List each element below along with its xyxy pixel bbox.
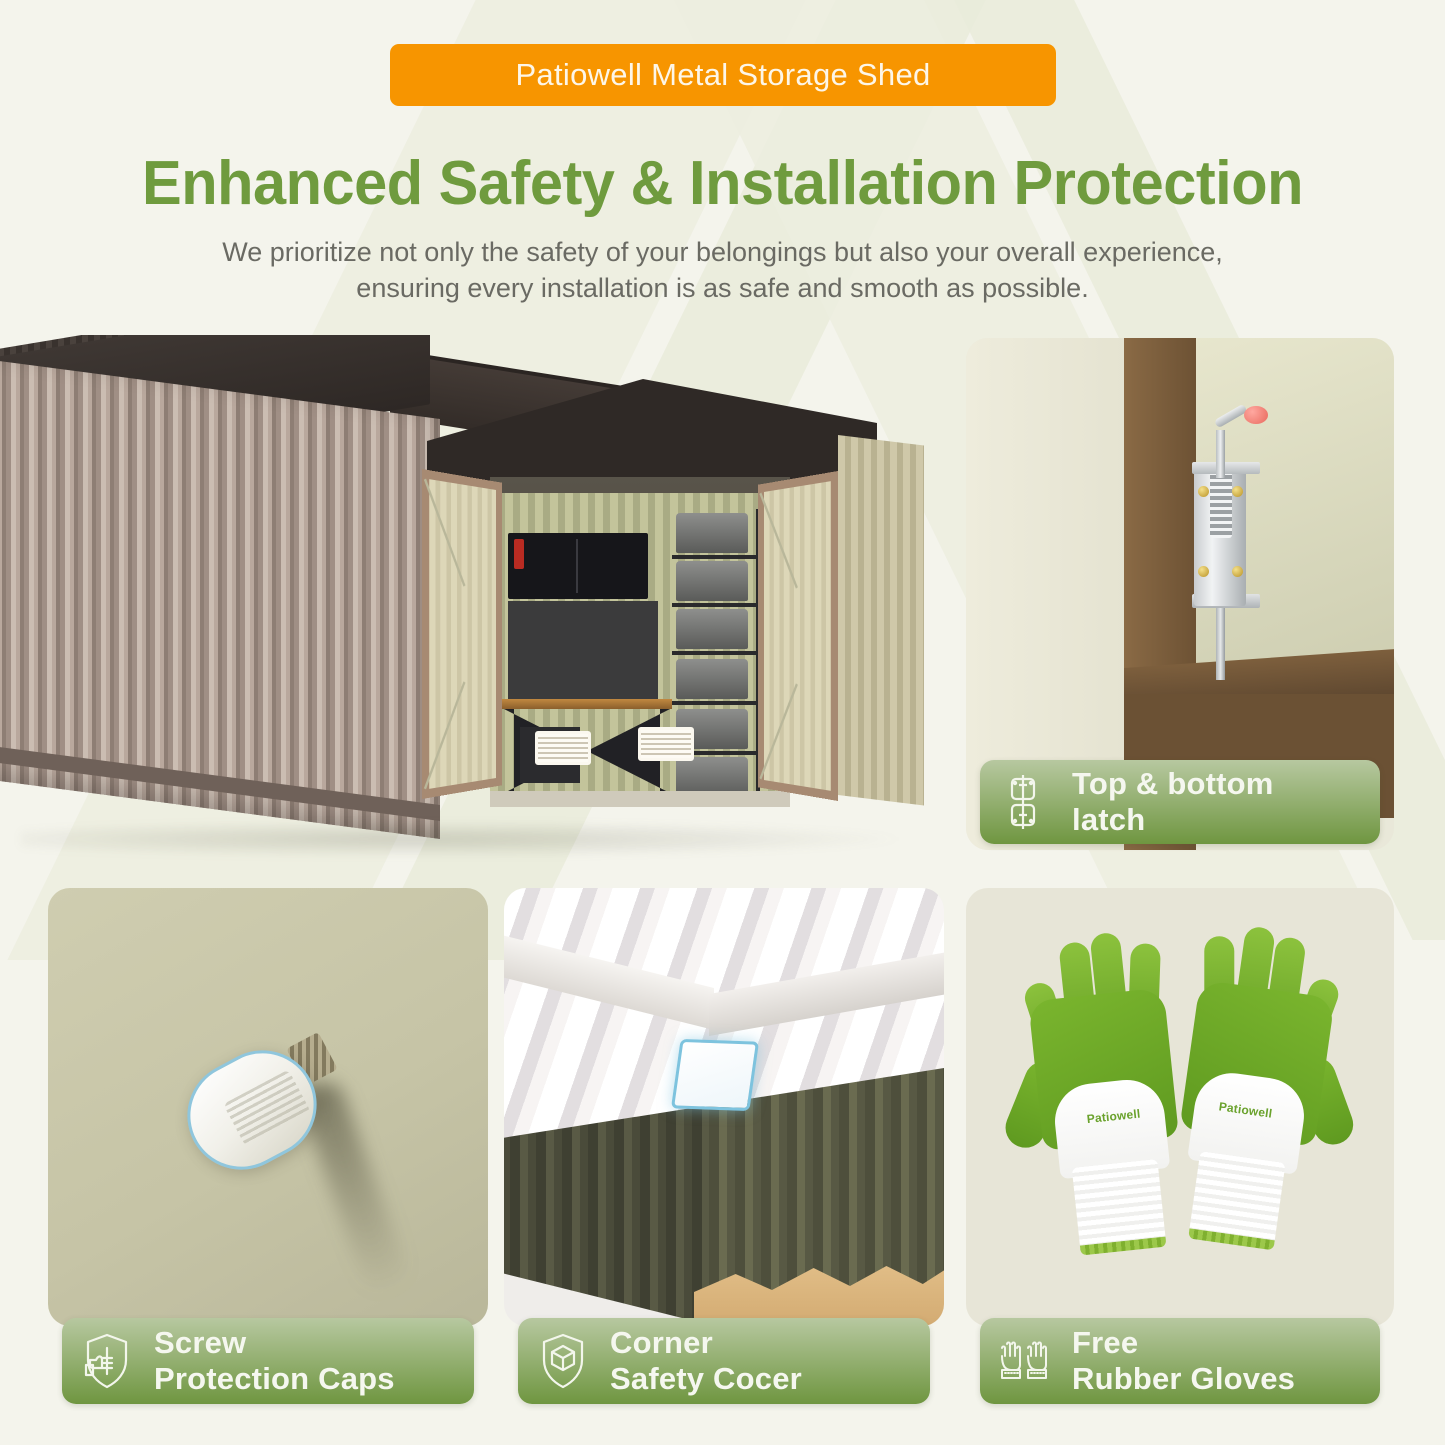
interior-wall-cabinet — [508, 533, 648, 599]
badge-line-1: Top & bottom — [1072, 766, 1274, 802]
product-title-label: Patiowell Metal Storage Shed — [515, 57, 930, 93]
shed-vent-right — [638, 727, 694, 761]
subheadline-line-1: We prioritize not only the safety of you… — [0, 235, 1445, 271]
door-brace — [759, 492, 797, 588]
corner-safety-cover-cap — [671, 1039, 759, 1111]
latch-spring — [1210, 472, 1232, 538]
page-headline: Enhanced Safety & Installation Protectio… — [29, 148, 1416, 219]
shed-door-left — [422, 469, 502, 799]
shed-vent-left — [535, 731, 591, 765]
gloves-icon — [998, 1332, 1052, 1390]
interior-shelf-rail — [672, 603, 768, 607]
rubber-glove-right: Patiowell — [1156, 917, 1351, 1255]
shed-ground-shadow — [20, 821, 900, 857]
shed-door-right — [758, 471, 838, 801]
badge-line-1: Corner — [610, 1325, 802, 1361]
interior-floor — [490, 791, 790, 807]
badge-line-1: Screw — [154, 1325, 395, 1361]
feature-badge-gloves-text: Free Rubber Gloves — [1072, 1325, 1295, 1397]
interior-bin — [676, 659, 748, 699]
door-brace — [424, 681, 466, 789]
latch-screw — [1232, 566, 1243, 577]
latch-screw — [1198, 566, 1209, 577]
badge-line-2: Protection Caps — [154, 1361, 395, 1397]
feature-badge-gloves: Free Rubber Gloves — [980, 1318, 1380, 1404]
interior-shelf-rail — [672, 651, 768, 655]
feature-badge-latch-text: Top & bottom latch — [1072, 766, 1274, 838]
badge-line-2: latch — [1072, 802, 1274, 838]
shield-hand-screw-icon — [80, 1332, 134, 1390]
latch-mount-plate-top — [1192, 462, 1260, 474]
screw-cap-photo-card — [48, 888, 488, 1326]
interior-shelf-rail — [672, 555, 768, 559]
feature-badge-latch: Top & bottom latch — [980, 760, 1380, 844]
feature-badge-screw-caps: Screw Protection Caps — [62, 1318, 474, 1404]
shed-far-wall — [838, 435, 924, 806]
latch-bolt-rod-lower — [1216, 606, 1225, 680]
latch-red-knob — [1244, 406, 1268, 424]
feature-badge-screw-caps-text: Screw Protection Caps — [154, 1325, 395, 1397]
hero-shed-photo — [0, 335, 950, 865]
product-title-pill: Patiowell Metal Storage Shed — [390, 44, 1056, 106]
feature-badge-corner-cover-text: Corner Safety Cocer — [610, 1325, 802, 1397]
corner-cover-photo-card — [504, 888, 944, 1326]
latch-bolt-rod-upper — [1216, 430, 1225, 478]
shield-cube-icon — [536, 1332, 590, 1390]
door-brace — [759, 683, 797, 779]
interior-tool-panel — [508, 601, 658, 701]
badge-line-1: Free — [1072, 1325, 1295, 1361]
interior-red-bottle — [514, 539, 524, 569]
badge-line-2: Safety Cocer — [610, 1361, 802, 1397]
interior-shelf-rail — [672, 701, 768, 705]
latch-screw — [1198, 486, 1209, 497]
interior-workbench-top — [500, 699, 672, 709]
latch-bolt-icon — [998, 773, 1052, 831]
interior-bin — [676, 513, 748, 553]
interior-bin — [676, 609, 748, 649]
feature-badge-corner-cover: Corner Safety Cocer — [518, 1318, 930, 1404]
door-brace — [424, 479, 466, 587]
gloves-photo-card: Patiowell Patiowell — [966, 888, 1394, 1326]
shed-illustration — [0, 335, 950, 865]
badge-line-2: Rubber Gloves — [1072, 1361, 1295, 1397]
subheadline-line-2: ensuring every installation is as safe a… — [0, 271, 1445, 307]
page-subheadline: We prioritize not only the safety of you… — [0, 235, 1445, 307]
interior-bin — [676, 561, 748, 601]
latch-screw — [1232, 486, 1243, 497]
